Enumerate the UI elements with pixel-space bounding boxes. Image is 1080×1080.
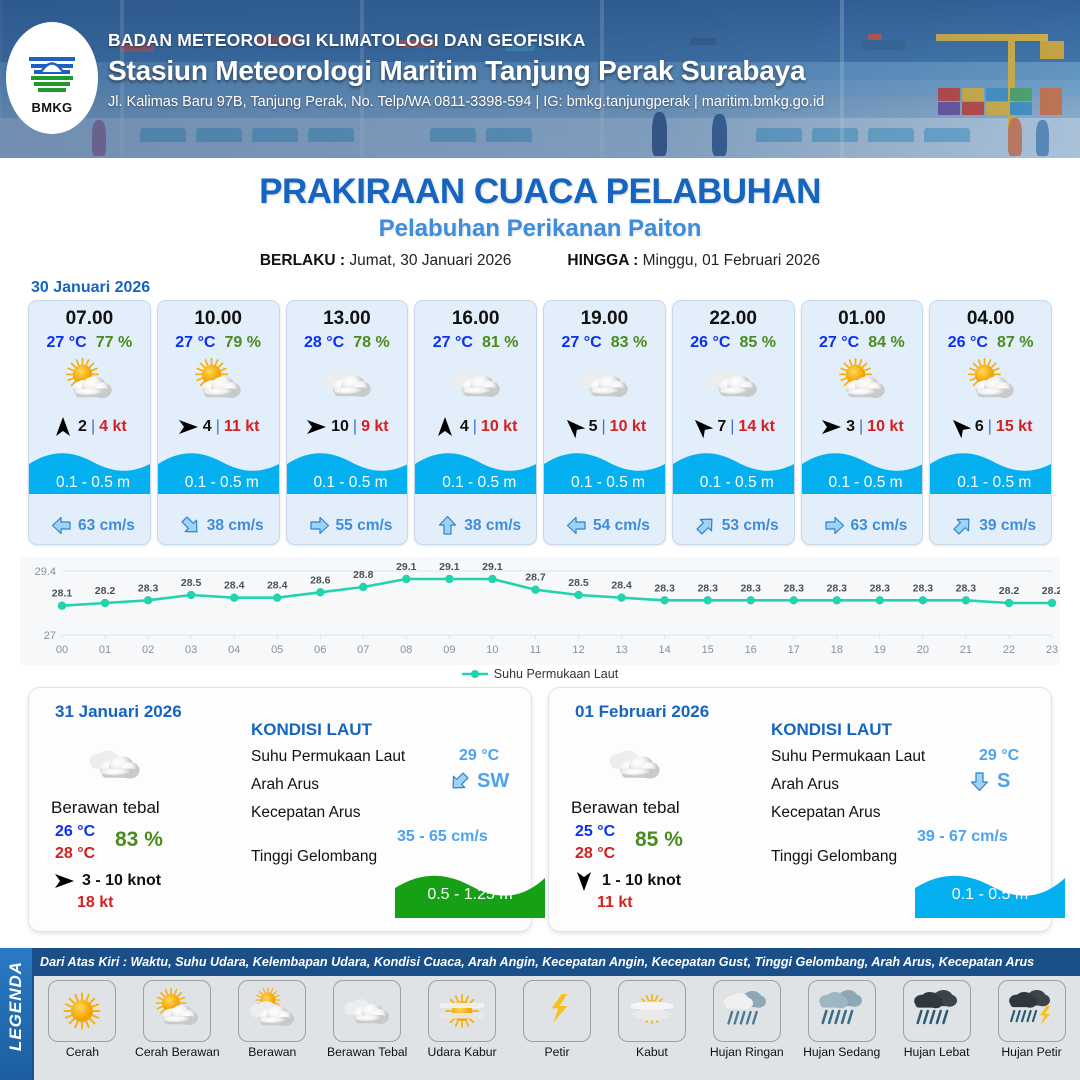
temp-humidity-row: 27 °C 79 % xyxy=(158,334,279,352)
wind-direction-arrow-icon xyxy=(434,416,456,438)
legend-icon-light-rain xyxy=(713,980,781,1042)
wind-speed: 6 xyxy=(975,418,984,436)
legend-sidebar: LEGENDA xyxy=(0,948,32,1080)
legend-line-marker xyxy=(462,669,488,679)
current-row: 63 cm/s xyxy=(802,515,924,536)
legend-item: Cerah xyxy=(36,980,129,1059)
current-row: 38 cm/s xyxy=(415,515,537,536)
current-speed: 54 cm/s xyxy=(593,517,650,535)
air-temperature: 26 °C xyxy=(948,334,988,352)
hourly-forecast-card: 04.00 26 °C 87 % 6 | 15 kt 0.1 - 0.5 m 3… xyxy=(929,300,1052,545)
wind-row: 2 | 4 kt xyxy=(29,416,150,438)
current-speed-label: Kecepatan Arus xyxy=(771,804,880,822)
svg-text:28.3: 28.3 xyxy=(138,582,159,594)
daily-wave-value: 0.1 - 0.5 m xyxy=(915,886,1065,904)
svg-text:29.1: 29.1 xyxy=(439,561,460,573)
svg-text:28.4: 28.4 xyxy=(267,580,288,592)
current-direction-arrow-icon xyxy=(437,515,458,536)
wind-row: 7 | 14 kt xyxy=(673,416,794,438)
sst-chart: 29.42728.128.228.328.528.428.428.628.829… xyxy=(20,557,1060,665)
current-direction-value: SW xyxy=(477,770,509,793)
legend-icon-fog xyxy=(618,980,686,1042)
sst-label: Suhu Permukaan Laut xyxy=(251,748,405,766)
wind-separator: | xyxy=(91,418,95,436)
daily-wave-graphic: 0.5 - 1.25 m xyxy=(395,868,545,918)
daily-condition: Berawan tebal xyxy=(51,798,160,818)
svg-text:28.5: 28.5 xyxy=(568,577,589,589)
legend-item: Petir xyxy=(511,980,604,1059)
current-direction-arrow-icon xyxy=(449,771,470,792)
daily-date: 31 Januari 2026 xyxy=(55,702,182,722)
weather-condition-icon xyxy=(287,355,408,411)
air-temperature: 27 °C xyxy=(47,334,87,352)
humidity: 84 % xyxy=(868,334,904,352)
forecast-time: 13.00 xyxy=(287,308,408,330)
current-direction-arrow-icon xyxy=(51,515,72,536)
daily-humidity: 83 % xyxy=(115,828,163,852)
svg-text:17: 17 xyxy=(788,644,800,656)
sst-value: 29 °C xyxy=(459,747,499,765)
svg-text:28.2: 28.2 xyxy=(999,585,1020,597)
daily-weather-icon xyxy=(607,736,663,792)
legend-icon-heavy-rain xyxy=(903,980,971,1042)
wind-direction-arrow-icon xyxy=(949,416,971,438)
wave-height-value: 0.1 - 0.5 m xyxy=(802,474,924,492)
legend-note: Dari Atas Kiri : Waktu, Suhu Udara, Kele… xyxy=(40,955,1034,969)
daily-date: 01 Februari 2026 xyxy=(575,702,709,722)
legend-icon-haze xyxy=(428,980,496,1042)
legend-item-label: Udara Kabur xyxy=(416,1045,509,1059)
hourly-forecast-card: 01.00 27 °C 84 % 3 | 10 kt 0.1 - 0.5 m 6… xyxy=(801,300,924,545)
wind-row: 3 | 10 kt xyxy=(802,416,923,438)
svg-text:28.3: 28.3 xyxy=(654,582,675,594)
sst-value: 29 °C xyxy=(979,747,1019,765)
page-header: BMKG BADAN METEOROLOGI KLIMATOLOGI DAN G… xyxy=(0,0,1080,158)
current-speed: 39 cm/s xyxy=(979,517,1036,535)
weather-condition-icon xyxy=(415,355,536,411)
hourly-forecast-card: 13.00 28 °C 78 % 10 | 9 kt 0.1 - 0.5 m 5… xyxy=(286,300,409,545)
legend-item: Hujan Ringan xyxy=(700,980,793,1059)
wind-direction-arrow-icon xyxy=(691,416,713,438)
wind-row: 10 | 9 kt xyxy=(287,416,408,438)
station-name: Stasiun Meteorologi Maritim Tanjung Pera… xyxy=(108,55,824,87)
wind-direction-arrow-icon xyxy=(177,416,199,438)
daily-temp-max: 28 °C xyxy=(575,845,615,863)
wind-row: 6 | 15 kt xyxy=(930,416,1051,438)
chart-legend-label: Suhu Permukaan Laut xyxy=(494,667,618,681)
legend-item: Udara Kabur xyxy=(416,980,509,1059)
wave-height-value: 0.1 - 0.5 m xyxy=(673,474,795,492)
forecast-time: 01.00 xyxy=(802,308,923,330)
current-direction-arrow-icon xyxy=(824,515,845,536)
daily-temp-min: 25 °C xyxy=(575,823,615,841)
wave-height-value: 0.1 - 0.5 m xyxy=(930,474,1052,492)
gust-speed: 11 kt xyxy=(224,418,260,436)
forecast-time: 16.00 xyxy=(415,308,536,330)
wave-height-label: Tinggi Gelombang xyxy=(771,848,897,866)
current-direction-arrow-icon xyxy=(180,515,201,536)
daily-weather-icon xyxy=(87,736,143,792)
svg-text:28.8: 28.8 xyxy=(353,569,374,581)
forecast-time: 22.00 xyxy=(673,308,794,330)
svg-text:13: 13 xyxy=(615,644,627,656)
humidity: 81 % xyxy=(482,334,518,352)
wind-direction-arrow-icon xyxy=(573,870,595,892)
weather-condition-icon xyxy=(29,355,150,411)
svg-text:28.3: 28.3 xyxy=(870,582,891,594)
svg-text:06: 06 xyxy=(314,644,326,656)
current-direction-value: S xyxy=(997,770,1010,793)
wave-height-label: Tinggi Gelombang xyxy=(251,848,377,866)
current-direction-arrow-icon xyxy=(695,515,716,536)
legend-item-label: Cerah xyxy=(36,1045,129,1059)
validity-from-label: BERLAKU : xyxy=(260,252,345,269)
sst-label: Suhu Permukaan Laut xyxy=(771,748,925,766)
weather-condition-icon xyxy=(802,355,923,411)
legend-item-label: Petir xyxy=(511,1045,604,1059)
daily-forecast-panel: 31 Januari 2026 Berawan tebal 26 °C 28 °… xyxy=(28,687,532,932)
svg-text:03: 03 xyxy=(185,644,197,656)
legend-icon-partly-cloudy xyxy=(143,980,211,1042)
air-temperature: 27 °C xyxy=(562,334,602,352)
air-temperature: 27 °C xyxy=(433,334,473,352)
weather-condition-icon xyxy=(158,355,279,411)
svg-text:29.1: 29.1 xyxy=(482,561,503,573)
bmkg-logo: BMKG xyxy=(6,22,98,134)
wind-direction-arrow-icon xyxy=(563,416,585,438)
legend-item-label: Cerah Berawan xyxy=(131,1045,224,1059)
wave-height-value: 0.1 - 0.5 m xyxy=(544,474,666,492)
temp-humidity-row: 27 °C 83 % xyxy=(544,334,665,352)
hourly-forecast-card: 19.00 27 °C 83 % 5 | 10 kt 0.1 - 0.5 m 5… xyxy=(543,300,666,545)
air-temperature: 26 °C xyxy=(690,334,730,352)
svg-text:11: 11 xyxy=(530,644,541,656)
svg-text:19: 19 xyxy=(874,644,886,656)
agency-name: BADAN METEOROLOGI KLIMATOLOGI DAN GEOFIS… xyxy=(108,30,824,51)
current-direction-label: Arah Arus xyxy=(771,776,839,794)
bmkg-logo-mark xyxy=(23,41,81,99)
current-direction-arrow-icon xyxy=(309,515,330,536)
current-direction-arrow-icon xyxy=(969,771,990,792)
svg-text:07: 07 xyxy=(357,644,369,656)
page-title: PRAKIRAAN CUACA PELABUHAN xyxy=(0,172,1080,212)
legend-item-label: Berawan Tebal xyxy=(321,1045,414,1059)
svg-text:28.3: 28.3 xyxy=(740,582,761,594)
svg-text:28.4: 28.4 xyxy=(224,580,245,592)
current-direction-arrow-icon xyxy=(566,515,587,536)
validity-row: BERLAKU : Jumat, 30 Januari 2026 HINGGA … xyxy=(0,252,1080,270)
chart-legend: Suhu Permukaan Laut xyxy=(0,667,1080,681)
header-text-block: BADAN METEOROLOGI KLIMATOLOGI DAN GEOFIS… xyxy=(108,30,824,110)
current-row: 38 cm/s xyxy=(158,515,280,536)
svg-text:28.4: 28.4 xyxy=(611,580,632,592)
daily-temp-min: 26 °C xyxy=(55,823,95,841)
daily-gust: 18 kt xyxy=(77,894,113,912)
weather-condition-icon xyxy=(673,355,794,411)
legend-item-label: Hujan Lebat xyxy=(890,1045,983,1059)
daily-forecast-panels: 31 Januari 2026 Berawan tebal 26 °C 28 °… xyxy=(0,681,1080,932)
wind-separator: | xyxy=(730,418,734,436)
svg-text:28.3: 28.3 xyxy=(827,582,848,594)
svg-text:23: 23 xyxy=(1046,644,1058,656)
svg-text:01: 01 xyxy=(99,644,111,656)
air-temperature: 27 °C xyxy=(175,334,215,352)
svg-text:28.6: 28.6 xyxy=(310,574,331,586)
page-subtitle: Pelabuhan Perikanan Paiton xyxy=(0,215,1080,243)
legend-icon-thunder-rain xyxy=(998,980,1066,1042)
sea-condition-title: KONDISI LAUT xyxy=(771,720,892,740)
current-speed: 53 cm/s xyxy=(722,517,779,535)
gust-speed: 15 kt xyxy=(996,418,1032,436)
current-speed-value: 39 - 67 cm/s xyxy=(917,828,1008,846)
sea-condition-title: KONDISI LAUT xyxy=(251,720,372,740)
legend-item-label: Hujan Petir xyxy=(985,1045,1078,1059)
gust-speed: 10 kt xyxy=(481,418,517,436)
wind-speed: 4 xyxy=(203,418,212,436)
svg-text:28.3: 28.3 xyxy=(913,582,934,594)
svg-text:28.5: 28.5 xyxy=(181,577,202,589)
wave-height-value: 0.1 - 0.5 m xyxy=(415,474,537,492)
svg-text:02: 02 xyxy=(142,644,154,656)
svg-text:21: 21 xyxy=(960,644,972,656)
wind-speed: 3 xyxy=(846,418,855,436)
svg-text:14: 14 xyxy=(658,644,670,656)
hourly-forecast-row: 07.00 27 °C 77 % 2 | 4 kt 0.1 - 0.5 m 63… xyxy=(0,300,1080,545)
svg-text:15: 15 xyxy=(702,644,714,656)
current-direction-label: Arah Arus xyxy=(251,776,319,794)
wave-height-value: 0.1 - 0.5 m xyxy=(287,474,409,492)
svg-text:28.7: 28.7 xyxy=(525,572,546,584)
svg-text:29.4: 29.4 xyxy=(35,566,56,578)
wind-speed: 2 xyxy=(78,418,87,436)
wind-separator: | xyxy=(216,418,220,436)
legend-icon-sunny xyxy=(48,980,116,1042)
legend-item-label: Kabut xyxy=(605,1045,698,1059)
hourly-forecast-card: 16.00 27 °C 81 % 4 | 10 kt 0.1 - 0.5 m 3… xyxy=(414,300,537,545)
svg-text:28.3: 28.3 xyxy=(956,582,977,594)
current-row: 63 cm/s xyxy=(29,515,151,536)
current-speed: 38 cm/s xyxy=(207,517,264,535)
hourly-forecast-card: 22.00 26 °C 85 % 7 | 14 kt 0.1 - 0.5 m 5… xyxy=(672,300,795,545)
wind-direction-arrow-icon xyxy=(305,416,327,438)
svg-text:28.3: 28.3 xyxy=(697,582,718,594)
current-speed: 63 cm/s xyxy=(851,517,908,535)
forecast-time: 04.00 xyxy=(930,308,1051,330)
legend-icon-cloudy xyxy=(333,980,401,1042)
svg-text:12: 12 xyxy=(572,644,584,656)
current-speed-label: Kecepatan Arus xyxy=(251,804,360,822)
legend-item-label: Hujan Ringan xyxy=(700,1045,793,1059)
gust-speed: 4 kt xyxy=(99,418,127,436)
svg-text:20: 20 xyxy=(917,644,929,656)
validity-from-value: Jumat, 30 Januari 2026 xyxy=(349,252,511,269)
bmkg-logo-label: BMKG xyxy=(32,100,73,115)
svg-text:28.3: 28.3 xyxy=(783,582,804,594)
current-row: 55 cm/s xyxy=(287,515,409,536)
svg-text:27: 27 xyxy=(44,630,56,642)
svg-text:28.1: 28.1 xyxy=(52,588,73,600)
validity-to: HINGGA : Minggu, 01 Februari 2026 xyxy=(567,252,820,270)
humidity: 83 % xyxy=(611,334,647,352)
svg-text:08: 08 xyxy=(400,644,412,656)
legend-section: LEGENDA Dari Atas Kiri : Waktu, Suhu Uda… xyxy=(0,948,1080,1080)
humidity: 79 % xyxy=(224,334,260,352)
legend-item: Hujan Lebat xyxy=(890,980,983,1059)
hourly-date-label: 30 Januari 2026 xyxy=(31,279,1080,297)
current-row: 53 cm/s xyxy=(673,515,795,536)
wind-separator: | xyxy=(988,418,992,436)
legend-icon-mostly-cloudy xyxy=(238,980,306,1042)
forecast-time: 10.00 xyxy=(158,308,279,330)
current-speed: 55 cm/s xyxy=(336,517,393,535)
svg-text:09: 09 xyxy=(443,644,455,656)
svg-text:18: 18 xyxy=(831,644,843,656)
wind-direction-arrow-icon xyxy=(53,870,75,892)
temp-humidity-row: 27 °C 77 % xyxy=(29,334,150,352)
current-speed: 63 cm/s xyxy=(78,517,135,535)
current-direction-arrow-icon xyxy=(952,515,973,536)
temp-humidity-row: 26 °C 87 % xyxy=(930,334,1051,352)
weather-condition-icon xyxy=(544,355,665,411)
contact-info: Jl. Kalimas Baru 97B, Tanjung Perak, No.… xyxy=(108,94,824,110)
legend-icon-thunder xyxy=(523,980,591,1042)
temp-humidity-row: 26 °C 85 % xyxy=(673,334,794,352)
svg-text:04: 04 xyxy=(228,644,240,656)
wind-separator: | xyxy=(859,418,863,436)
wind-speed: 7 xyxy=(717,418,726,436)
air-temperature: 28 °C xyxy=(304,334,344,352)
wave-height-value: 0.1 - 0.5 m xyxy=(158,474,280,492)
temp-humidity-row: 28 °C 78 % xyxy=(287,334,408,352)
validity-to-value: Minggu, 01 Februari 2026 xyxy=(643,252,821,269)
gust-speed: 14 kt xyxy=(738,418,774,436)
daily-wave-value: 0.5 - 1.25 m xyxy=(395,886,545,904)
svg-text:05: 05 xyxy=(271,644,283,656)
legend-item-label: Hujan Sedang xyxy=(795,1045,888,1059)
daily-wind-range: 1 - 10 knot xyxy=(602,872,681,890)
wind-direction-arrow-icon xyxy=(52,416,74,438)
current-speed-value: 35 - 65 cm/s xyxy=(397,828,488,846)
validity-to-label: HINGGA : xyxy=(567,252,638,269)
legend-item: Kabut xyxy=(605,980,698,1059)
legend-item-label: Berawan xyxy=(226,1045,319,1059)
svg-text:22: 22 xyxy=(1003,644,1015,656)
svg-text:29.1: 29.1 xyxy=(396,561,417,573)
humidity: 87 % xyxy=(997,334,1033,352)
current-direction-value-row: SW xyxy=(449,770,509,793)
temp-humidity-row: 27 °C 81 % xyxy=(415,334,536,352)
wind-direction-arrow-icon xyxy=(820,416,842,438)
legend-sidebar-label: LEGENDA xyxy=(6,958,26,1054)
current-direction-value-row: S xyxy=(969,770,1010,793)
hourly-forecast-card: 10.00 27 °C 79 % 4 | 11 kt 0.1 - 0.5 m 3… xyxy=(157,300,280,545)
legend-icon-moderate-rain xyxy=(808,980,876,1042)
wind-speed: 5 xyxy=(589,418,598,436)
legend-item: Berawan Tebal xyxy=(321,980,414,1059)
wind-speed: 4 xyxy=(460,418,469,436)
current-row: 39 cm/s xyxy=(930,515,1052,536)
legend-item: Hujan Petir xyxy=(985,980,1078,1059)
validity-from: BERLAKU : Jumat, 30 Januari 2026 xyxy=(260,252,512,270)
wind-separator: | xyxy=(353,418,357,436)
current-row: 54 cm/s xyxy=(544,515,666,536)
forecast-time: 07.00 xyxy=(29,308,150,330)
daily-wind: 1 - 10 knot xyxy=(573,870,681,892)
daily-condition: Berawan tebal xyxy=(571,798,680,818)
wave-height-value: 0.1 - 0.5 m xyxy=(29,474,151,492)
daily-wave-graphic: 0.1 - 0.5 m xyxy=(915,868,1065,918)
svg-text:28.2: 28.2 xyxy=(1042,585,1060,597)
temp-humidity-row: 27 °C 84 % xyxy=(802,334,923,352)
air-temperature: 27 °C xyxy=(819,334,859,352)
wind-separator: | xyxy=(602,418,606,436)
gust-speed: 10 kt xyxy=(867,418,903,436)
legend-items-row: Cerah Cerah Berawan Berawan Berawan Teba… xyxy=(34,976,1080,1080)
wind-row: 4 | 10 kt xyxy=(415,416,536,438)
svg-text:16: 16 xyxy=(745,644,757,656)
daily-wind-range: 3 - 10 knot xyxy=(82,872,161,890)
daily-humidity: 85 % xyxy=(635,828,683,852)
legend-item: Hujan Sedang xyxy=(795,980,888,1059)
weather-condition-icon xyxy=(930,355,1051,411)
wind-speed: 10 xyxy=(331,418,349,436)
legend-item: Berawan xyxy=(226,980,319,1059)
svg-text:00: 00 xyxy=(56,644,68,656)
daily-temp-max: 28 °C xyxy=(55,845,95,863)
svg-text:10: 10 xyxy=(486,644,498,656)
legend-item: Cerah Berawan xyxy=(131,980,224,1059)
forecast-time: 19.00 xyxy=(544,308,665,330)
wind-row: 4 | 11 kt xyxy=(158,416,279,438)
humidity: 78 % xyxy=(353,334,389,352)
humidity: 77 % xyxy=(96,334,132,352)
svg-text:28.2: 28.2 xyxy=(95,585,116,597)
daily-gust: 11 kt xyxy=(597,894,633,912)
humidity: 85 % xyxy=(739,334,775,352)
gust-speed: 9 kt xyxy=(361,418,389,436)
daily-forecast-panel: 01 Februari 2026 Berawan tebal 25 °C 28 … xyxy=(548,687,1052,932)
current-speed: 38 cm/s xyxy=(464,517,521,535)
gust-speed: 10 kt xyxy=(610,418,646,436)
wind-row: 5 | 10 kt xyxy=(544,416,665,438)
wind-separator: | xyxy=(473,418,477,436)
daily-wind: 3 - 10 knot xyxy=(53,870,161,892)
hourly-forecast-card: 07.00 27 °C 77 % 2 | 4 kt 0.1 - 0.5 m 63… xyxy=(28,300,151,545)
